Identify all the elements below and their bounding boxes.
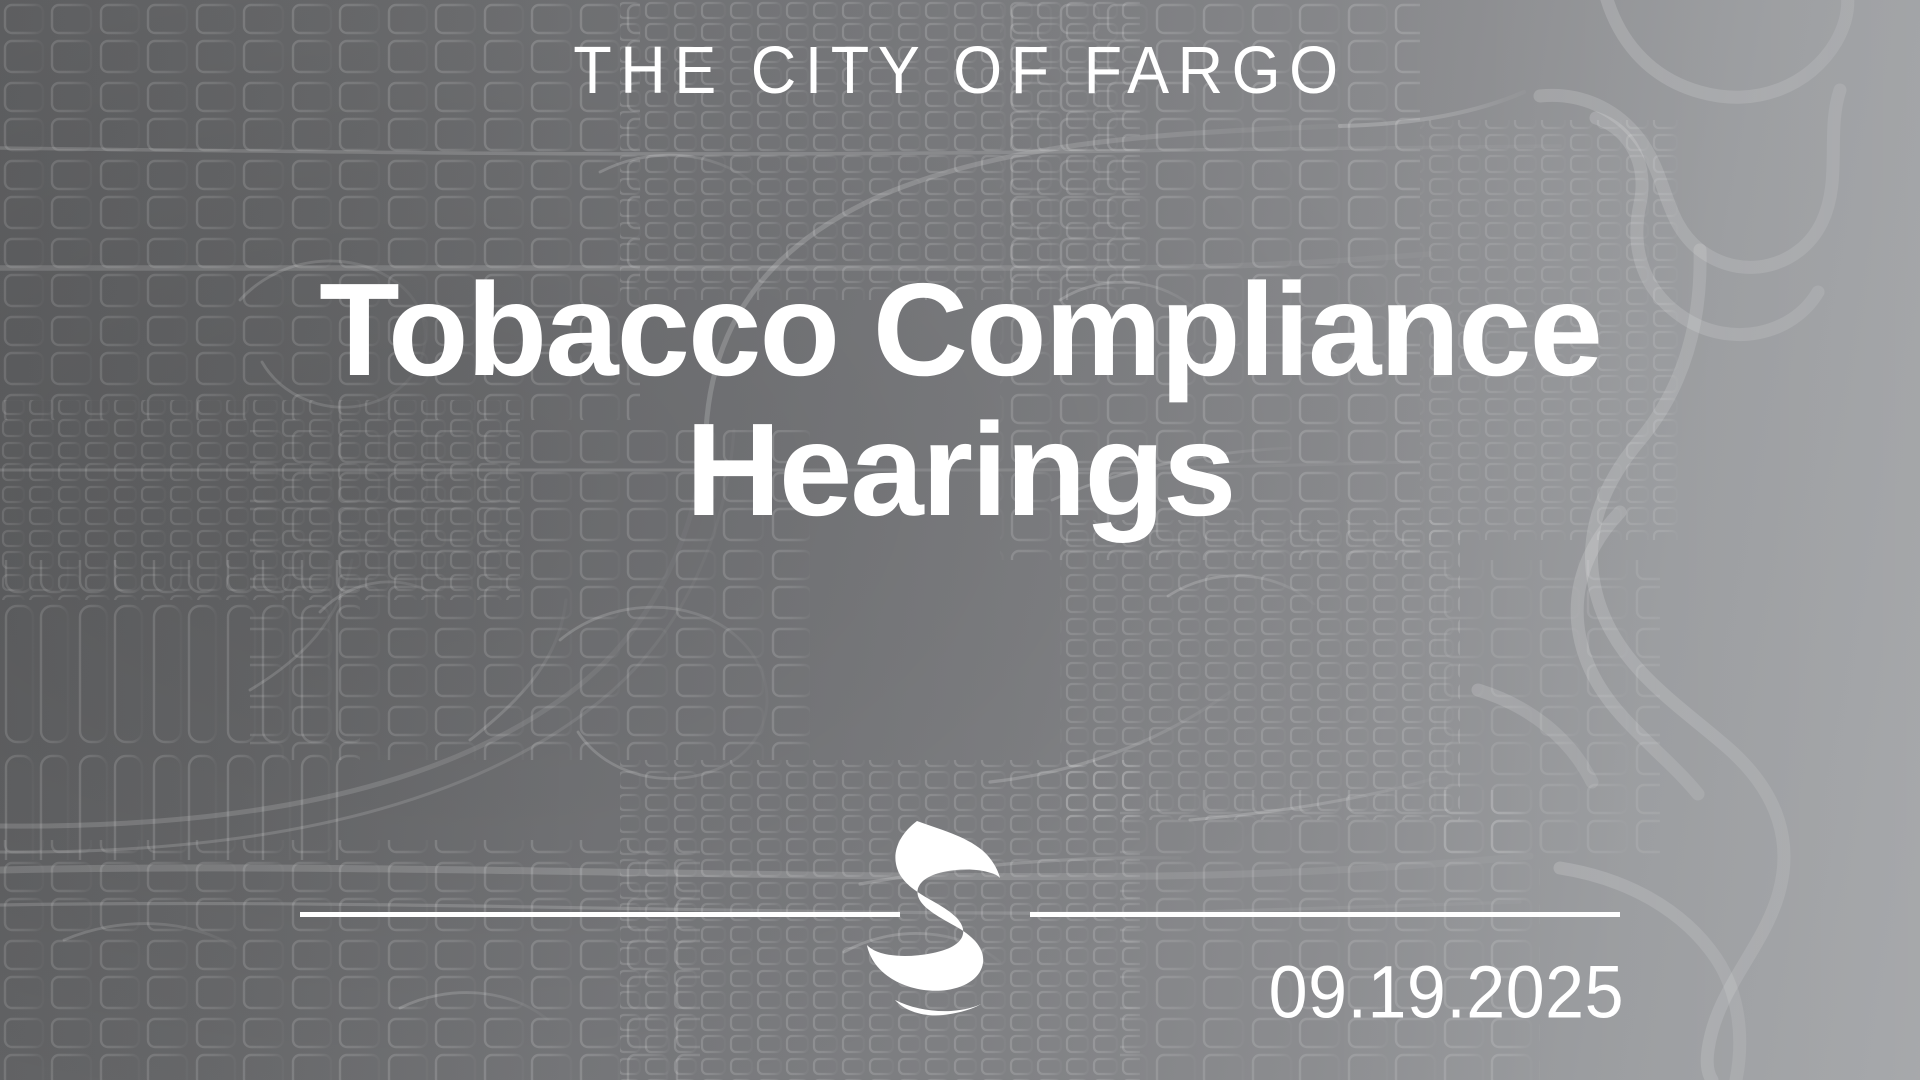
slide-content: THE CITY OF FARGO Tobacco Compliance Hea… [0,0,1920,1080]
divider-rule-right [1030,912,1620,917]
page-title: Tobacco Compliance Hearings [60,260,1860,540]
presentation-slide: THE CITY OF FARGO Tobacco Compliance Hea… [0,0,1920,1080]
divider-rule-left [300,912,900,917]
organization-eyebrow: THE CITY OF FARGO [0,36,1920,106]
page-title-line-1: Tobacco Compliance [60,260,1860,400]
divider [300,912,1620,918]
page-title-line-2: Hearings [60,400,1860,540]
event-date: 09.19.2025 [0,955,1624,1029]
